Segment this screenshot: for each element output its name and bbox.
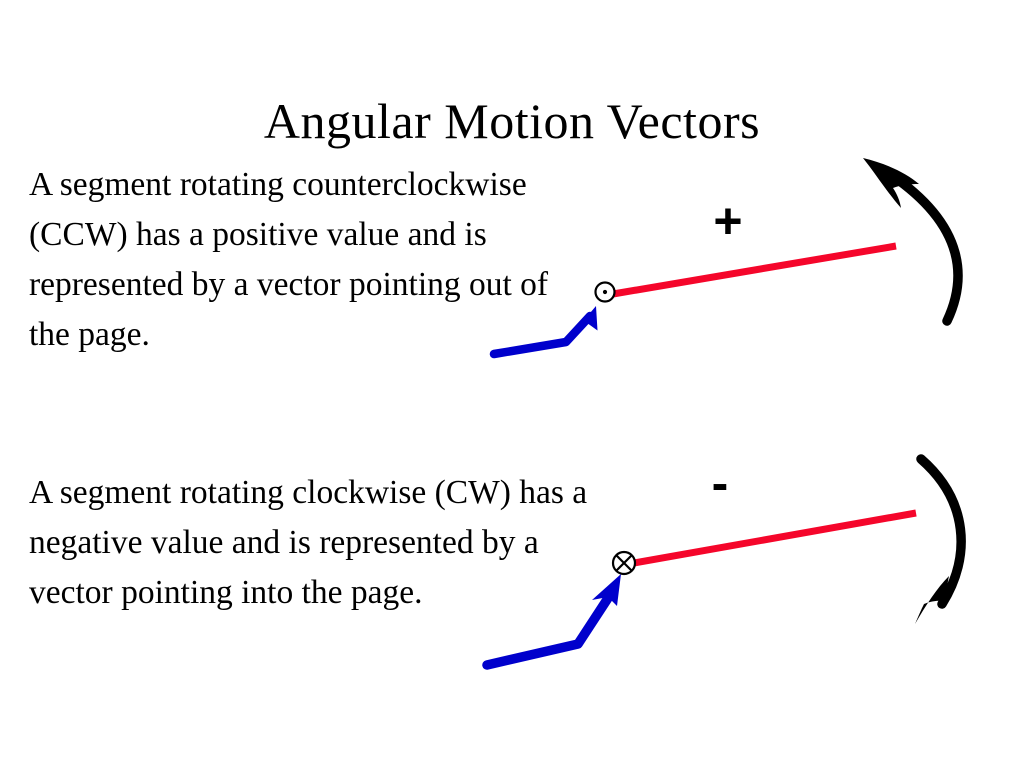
circle-cross-icon (613, 552, 635, 574)
positive-sign-label: + (698, 196, 758, 246)
paragraph-counterclockwise: A segment rotating counterclockwise (CCW… (29, 160, 589, 360)
page-title: Angular Motion Vectors (0, 92, 1024, 150)
circle-dot-icon (596, 283, 615, 302)
negative-sign-label: - (690, 458, 750, 508)
slide-canvas: Angular Motion Vectors A segment rotatin… (0, 0, 1024, 768)
paragraph-clockwise: A segment rotating clockwise (CW) has a … (29, 468, 589, 618)
rotating-segment-cw (634, 513, 916, 563)
rotation-arrow-ccw (863, 158, 958, 321)
rotation-arrow-cw (915, 459, 961, 624)
rotating-segment-ccw (613, 246, 896, 294)
